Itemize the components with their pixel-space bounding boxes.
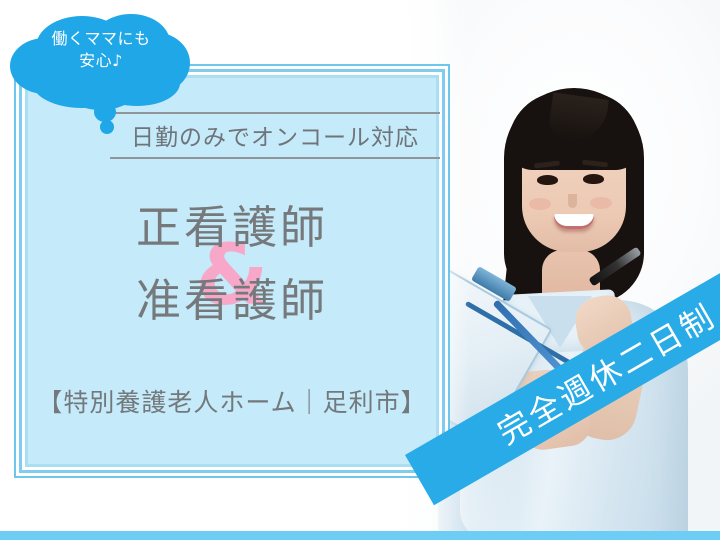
bubble-tail-small [100,120,114,134]
eye-left [537,175,558,185]
bubble-text-line-1: 働くママにも [8,28,194,50]
bottom-accent-bar [0,531,720,540]
thought-bubble: 働くママにも 安心♪ [8,14,198,124]
eye-right [583,174,604,184]
bubble-text-line-2: 安心♪ [8,50,194,72]
facility-location-text: 【特別養護老人ホーム｜足利市】 [14,383,450,419]
job-advertisement-banner: 日勤のみでオンコール対応 & 正看護師 准看護師 【特別養護老人ホーム｜足利市】… [0,0,720,540]
nose [568,194,577,208]
bubble-text: 働くママにも 安心♪ [8,28,194,71]
job-title-primary: 正看護師 [14,205,450,250]
bubble-tail-large [94,102,116,122]
cheek-left [529,198,551,210]
cheek-right [590,197,612,209]
job-title-block: & 正看護師 准看護師 [14,205,450,323]
smiling-mouth [554,214,594,229]
job-title-secondary: 准看護師 [14,278,450,323]
heading-rule-bottom [110,157,440,159]
